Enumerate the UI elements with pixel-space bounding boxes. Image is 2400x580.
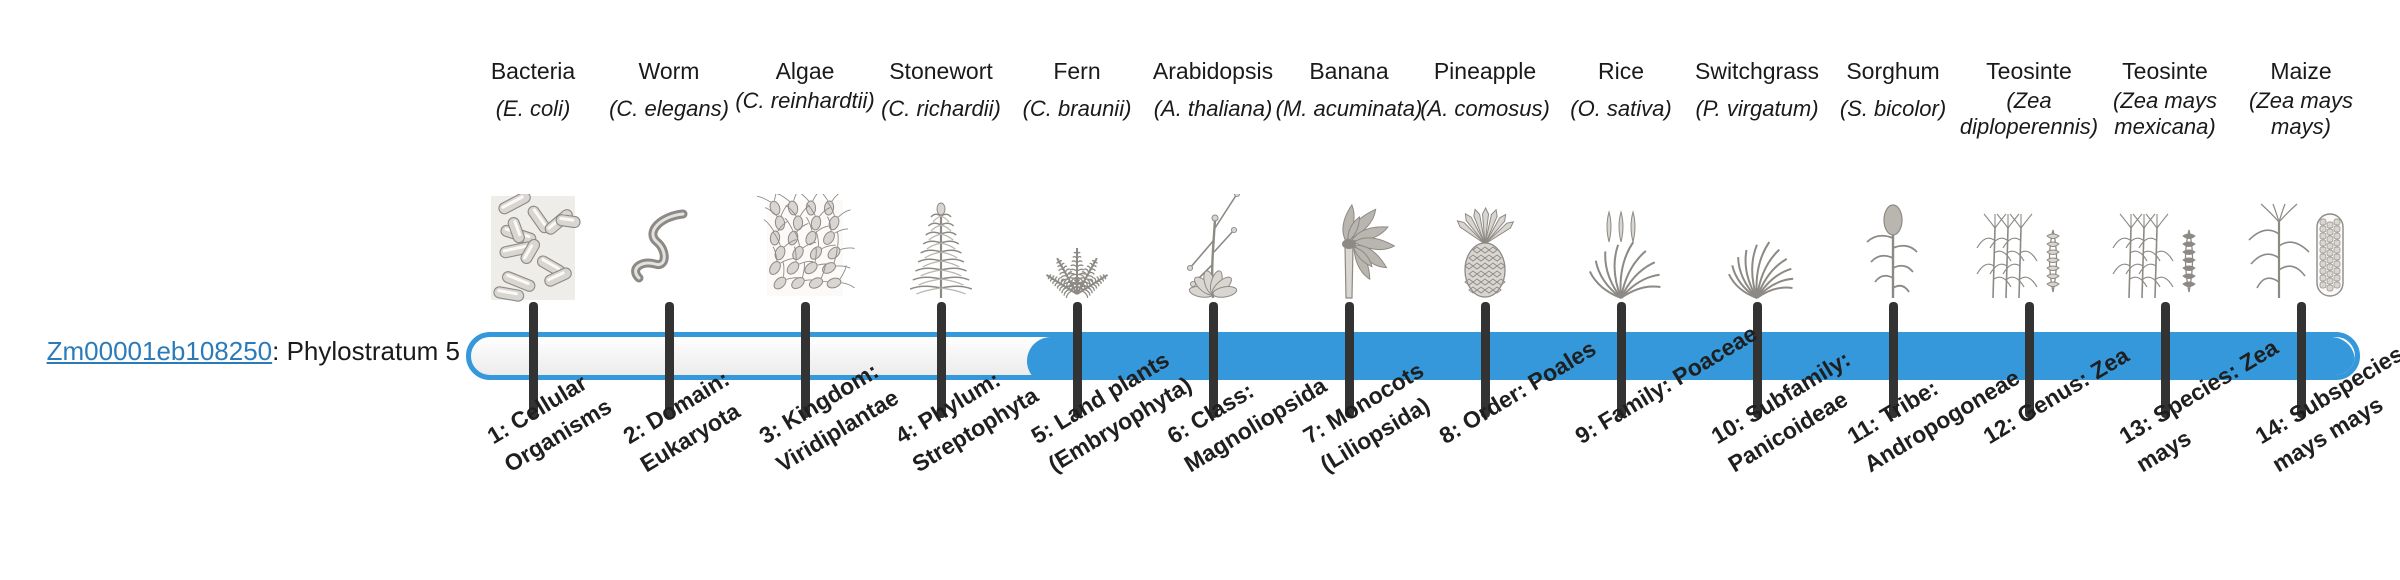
phylostratum-timeline-figure: Zm00001eb108250: Phylostratum 5 Bacteria… <box>0 0 2400 580</box>
gene-label-separator: : <box>272 336 286 366</box>
gene-id-link[interactable]: Zm00001eb108250 <box>47 336 273 366</box>
phylostratum-value-label: Phylostratum 5 <box>287 336 460 366</box>
taxonomic-rank-labels: 1: Cellular Organisms2: Domain: Eukaryot… <box>466 0 2360 580</box>
gene-phylostratum-label: Zm00001eb108250: Phylostratum 5 <box>40 336 460 367</box>
